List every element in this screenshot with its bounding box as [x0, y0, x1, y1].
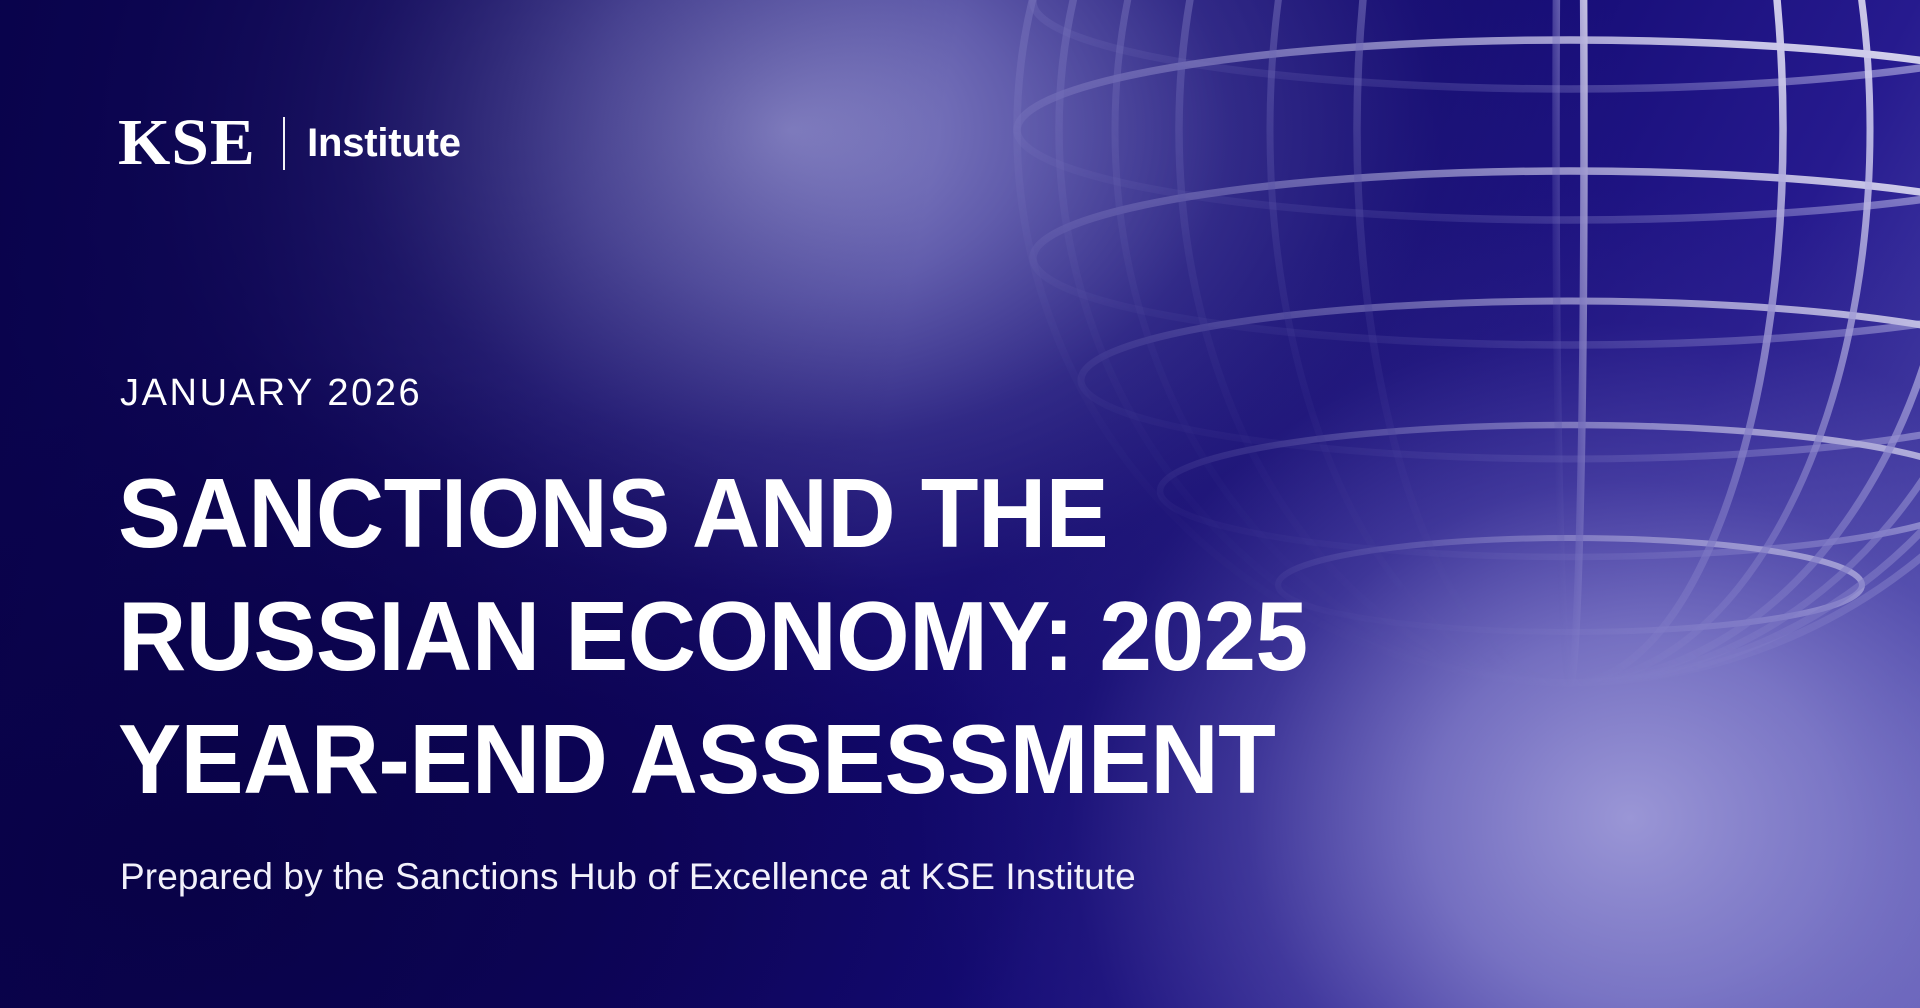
page-title-line-3: YEAR-END ASSESSMENT	[118, 698, 1488, 821]
page-title-line-2: RUSSIAN ECONOMY: 2025	[118, 575, 1488, 698]
page-title: SANCTIONS AND THE RUSSIAN ECONOMY: 2025 …	[118, 452, 1538, 821]
logo-wordmark-institute: Institute	[307, 123, 461, 163]
kse-institute-logo: KSE Institute	[118, 108, 461, 178]
logo-divider	[283, 117, 285, 170]
logo-mark-kse: KSE	[118, 110, 256, 176]
publication-date: JANUARY 2026	[120, 372, 422, 415]
cover-content: KSE Institute JANUARY 2026 SANCTIONS AND…	[0, 0, 1920, 1008]
page-subtitle: Prepared by the Sanctions Hub of Excelle…	[120, 856, 1136, 898]
report-cover: KSE Institute JANUARY 2026 SANCTIONS AND…	[0, 0, 1920, 1008]
page-title-line-1: SANCTIONS AND THE	[118, 452, 1488, 575]
